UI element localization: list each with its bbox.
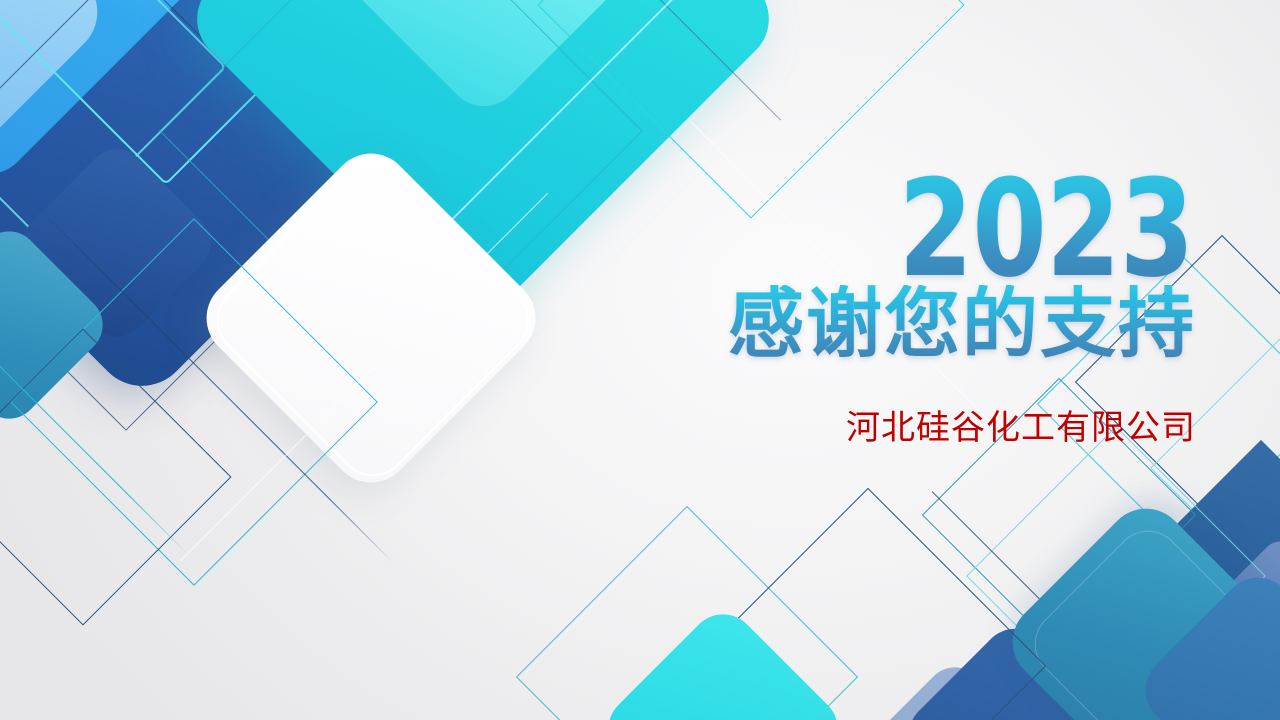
closing-slide: 2023 感谢您的支持 河北硅谷化工有限公司 (0, 0, 1280, 720)
slide-text-block: 2023 感谢您的支持 河北硅谷化工有限公司 (560, 168, 1200, 450)
headline-text: 感谢您的支持 (560, 285, 1200, 366)
company-name: 河北硅谷化工有限公司 (560, 406, 1200, 450)
year-title: 2023 (688, 168, 1200, 291)
